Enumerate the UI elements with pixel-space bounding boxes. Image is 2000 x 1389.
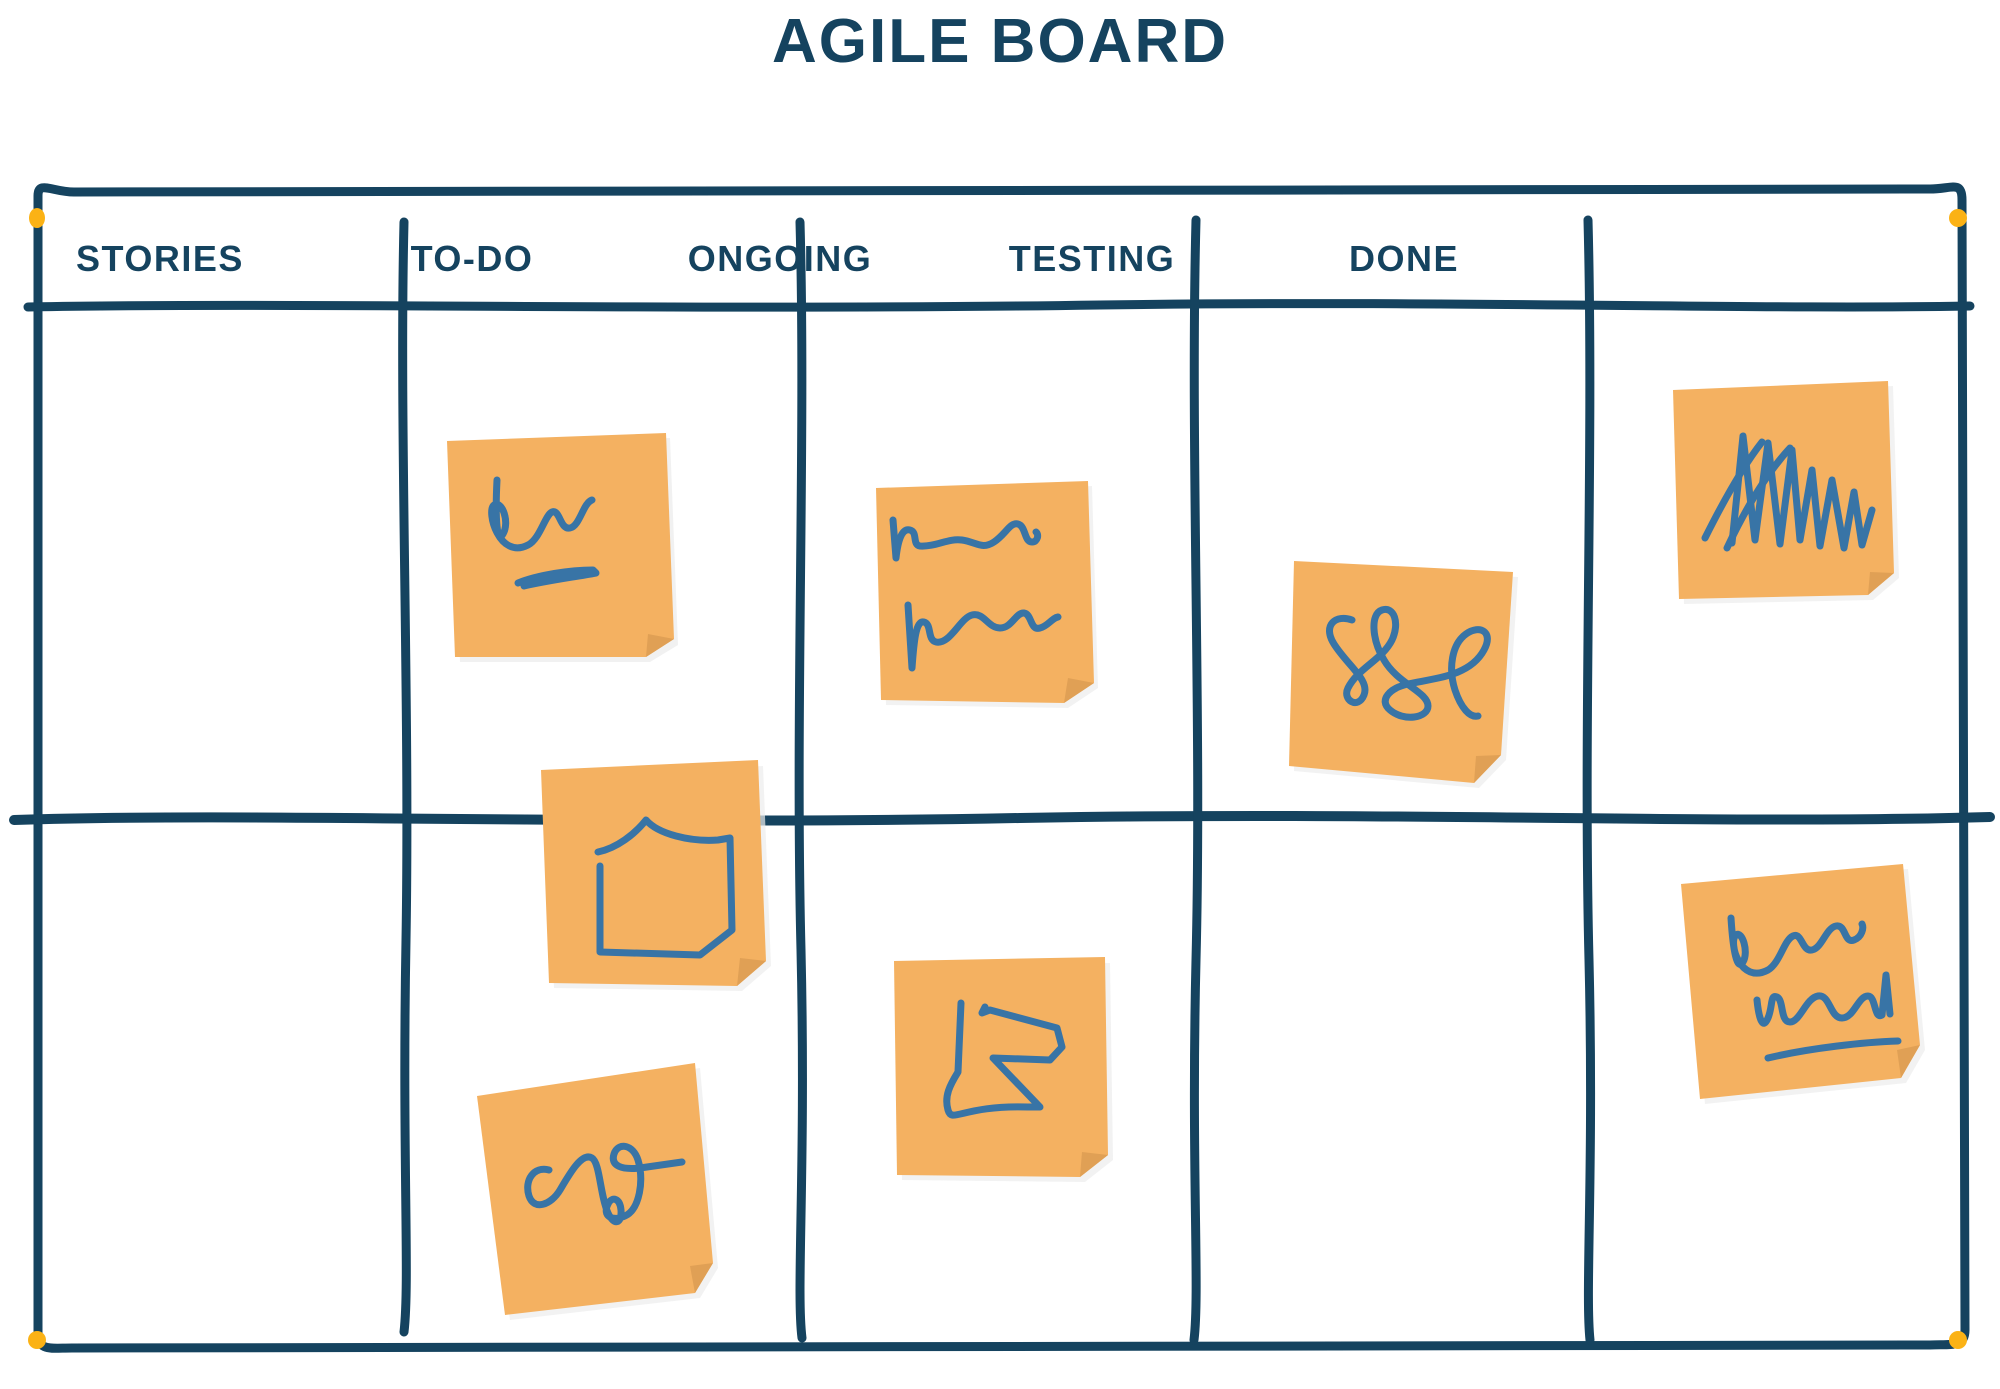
row-divider-line (14, 816, 1990, 821)
magnet-top-left (29, 208, 45, 228)
sticky-note-done-2[interactable] (1681, 864, 1925, 1104)
magnet-top-right (1949, 209, 1967, 227)
column-header-to-do: TO-DO (322, 238, 622, 280)
column-header-testing: TESTING (942, 238, 1242, 280)
column-divider-2 (799, 222, 802, 1338)
sticky-note-testing-1[interactable] (1289, 561, 1518, 788)
sticky-note-ongoing-1[interactable] (876, 481, 1098, 708)
column-divider-1 (403, 222, 407, 1332)
column-header-stories: STORIES (10, 238, 310, 280)
agile-board-page: AGILE BOARD (0, 0, 2000, 1389)
header-divider-line (28, 304, 1970, 308)
column-divider-3 (1194, 220, 1198, 1340)
whiteboard-canvas (0, 0, 2000, 1389)
sticky-note-ongoing-2[interactable] (894, 957, 1113, 1182)
magnet-bottom-left (28, 1331, 46, 1349)
sticky-note-todo-1[interactable] (447, 433, 678, 662)
sticky-note-todo-3[interactable] (477, 1063, 718, 1320)
column-divider-4 (1587, 220, 1590, 1340)
column-header-done: DONE (1254, 238, 1554, 280)
column-header-ongoing: ONGOING (630, 238, 930, 280)
sticky-note-done-1[interactable] (1673, 381, 1899, 604)
magnet-bottom-right (1949, 1331, 1967, 1349)
sticky-note-todo-2[interactable] (541, 760, 771, 991)
